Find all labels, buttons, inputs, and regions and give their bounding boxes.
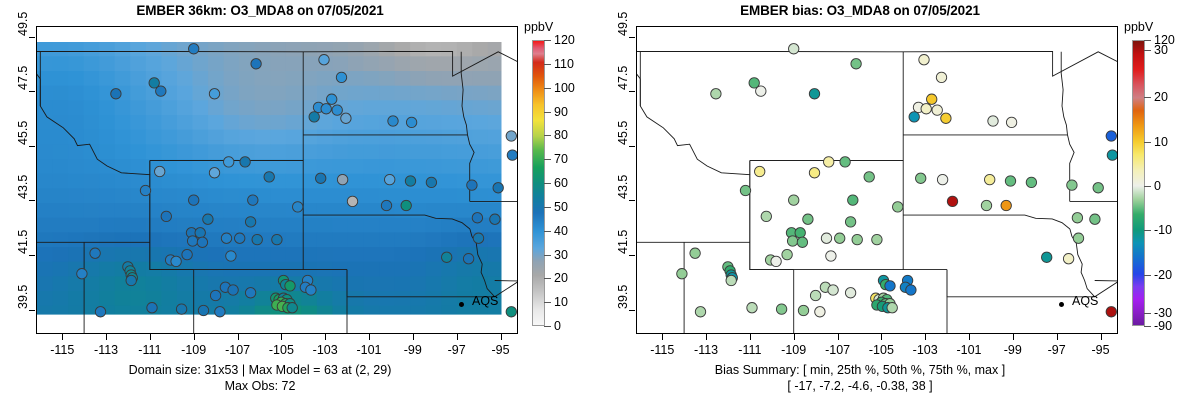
- colorbar-tick: [544, 278, 551, 279]
- y-axis: 39.541.543.545.547.549.5: [635, 26, 636, 334]
- colorbar-tick-label: 120: [554, 33, 575, 47]
- x-axis-tick-label: -105: [269, 343, 294, 357]
- colorbar-tick-label: 30: [554, 248, 568, 262]
- x-axis: -115-113-111-109-107-105-103-101-99-97-9…: [36, 334, 518, 335]
- x-axis-tick-label: -111: [138, 343, 161, 357]
- colorbar-tick-label: -90: [1154, 319, 1172, 333]
- y-axis-tick: [629, 37, 635, 38]
- aqs-legend-label: AQS: [472, 294, 498, 308]
- x-axis-tick-label: -99: [1004, 343, 1022, 357]
- x-axis-tick: [238, 334, 239, 340]
- x-axis-tick-label: -101: [956, 343, 981, 357]
- colorbar-tick: [1144, 142, 1151, 143]
- colorbar-tick: [1144, 40, 1151, 41]
- colorbar-tick-label: 10: [1154, 135, 1168, 149]
- y-axis-tick: [629, 146, 635, 147]
- aqs-legend-dot: [459, 302, 464, 307]
- x-axis-tick-label: -95: [491, 343, 509, 357]
- colorbar-tick-label: -10: [1154, 223, 1172, 237]
- x-axis-tick: [706, 334, 707, 340]
- map-clip: [637, 27, 1117, 333]
- y-axis-tick: [629, 91, 635, 92]
- x-axis-tick-label: -115: [50, 343, 74, 357]
- bias-map-plot[interactable]: [636, 26, 1118, 334]
- colorbar-tick: [544, 88, 551, 89]
- x-axis-tick-label: -97: [448, 343, 466, 357]
- figure-root: EMBER 36km: O3_MDA8 on 07/05/2021AQS-115…: [0, 0, 1200, 409]
- x-axis-tick: [62, 334, 63, 340]
- x-axis-tick: [281, 334, 282, 340]
- y-axis-tick: [629, 255, 635, 256]
- x-axis-tick: [457, 334, 458, 340]
- panel-model: EMBER 36km: O3_MDA8 on 07/05/2021AQS-115…: [0, 0, 600, 409]
- aqs-bias-markers[interactable]: [637, 27, 1117, 333]
- x-axis-tick-label: -99: [404, 343, 422, 357]
- colorbar-tick: [544, 183, 551, 184]
- colorbar-tick-label: 90: [554, 105, 568, 119]
- x-axis-tick: [194, 334, 195, 340]
- colorbar-tick-label: -20: [1154, 268, 1172, 282]
- x-axis-tick-label: -107: [225, 343, 250, 357]
- x-axis-tick: [1013, 334, 1014, 340]
- x-axis-tick: [413, 334, 414, 340]
- y-axis-tick: [629, 200, 635, 201]
- colorbar-tick: [544, 255, 551, 256]
- x-axis-tick: [1057, 334, 1058, 340]
- colorbar-unit-label: ppbV: [524, 20, 553, 34]
- panel-caption-line1: Bias Summary: [ min, 25th %, 50th %, 75t…: [600, 362, 1120, 378]
- model-map-plot[interactable]: [36, 26, 518, 334]
- x-axis-tick-label: -95: [1091, 343, 1109, 357]
- colorbar-tick-label: 10: [554, 295, 568, 309]
- x-axis-tick-label: -113: [94, 343, 118, 357]
- x-axis-tick: [325, 334, 326, 340]
- colorbar-tick: [544, 207, 551, 208]
- colorbar-tick: [1144, 326, 1151, 327]
- x-axis-tick: [838, 334, 839, 340]
- x-axis-tick: [969, 334, 970, 340]
- colorbar-tick-label: 110: [554, 57, 574, 71]
- colorbar-tick-label: 0: [554, 319, 561, 333]
- x-axis-tick-label: -103: [913, 343, 938, 357]
- colorbar-tick: [544, 326, 551, 327]
- x-axis-tick-label: -101: [356, 343, 381, 357]
- x-axis-tick: [925, 334, 926, 340]
- colorbar-tick-label: 0: [1154, 179, 1161, 193]
- x-axis-tick: [750, 334, 751, 340]
- colorbar-tick: [1144, 186, 1151, 187]
- y-axis-tick: [29, 200, 35, 201]
- x-axis-tick-label: -113: [694, 343, 718, 357]
- colorbar-tick: [544, 231, 551, 232]
- colorbar-tick: [544, 112, 551, 113]
- y-axis-tick: [29, 310, 35, 311]
- x-axis-tick-label: -111: [738, 343, 761, 357]
- colorbar-tick-label: 100: [554, 81, 575, 95]
- x-axis-tick: [369, 334, 370, 340]
- x-axis-tick-label: -115: [650, 343, 674, 357]
- x-axis-tick-label: -105: [869, 343, 894, 357]
- bias-panel-title: EMBER bias: O3_MDA8 on 07/05/2021: [600, 3, 1120, 18]
- aqs-observation-markers[interactable]: [37, 27, 517, 333]
- colorbar-tick-label: 30: [1154, 43, 1168, 57]
- colorbar-tick-label: 20: [1154, 90, 1168, 104]
- x-axis-tick-label: -109: [181, 343, 206, 357]
- colorbar-tick: [1144, 275, 1151, 276]
- x-axis-tick: [794, 334, 795, 340]
- colorbar-tick-label: 20: [554, 271, 568, 285]
- colorbar-tick: [544, 302, 551, 303]
- y-axis-tick: [629, 310, 635, 311]
- y-axis-tick: [29, 91, 35, 92]
- colorbar-tick: [544, 40, 551, 41]
- colorbar-tick: [1144, 97, 1151, 98]
- colorbar-tick-label: 50: [554, 200, 568, 214]
- colorbar-unit-label: ppbV: [1124, 20, 1153, 34]
- colorbar-tick-label: 70: [554, 152, 568, 166]
- x-axis-tick: [150, 334, 151, 340]
- panel-caption-line2: Max Obs: 72: [0, 378, 520, 394]
- colorbar-tick-label: 80: [554, 128, 568, 142]
- panel-caption-line2: [ -17, -7.2, -4.6, -0.38, 38 ]: [600, 378, 1120, 394]
- x-axis-tick: [501, 334, 502, 340]
- colorbar-tick: [1144, 50, 1151, 51]
- x-axis-tick-label: -97: [1048, 343, 1066, 357]
- colorbar-gradient: [1132, 40, 1145, 326]
- x-axis-tick-label: -107: [825, 343, 850, 357]
- x-axis-tick-label: -109: [781, 343, 806, 357]
- colorbar-tick-label: 40: [554, 224, 568, 238]
- panel-caption-line1: Domain size: 31x53 | Max Model = 63 at (…: [0, 362, 520, 378]
- x-axis-tick: [662, 334, 663, 340]
- y-axis-tick: [29, 146, 35, 147]
- aqs-legend-dot: [1059, 302, 1064, 307]
- colorbar-tick: [544, 135, 551, 136]
- x-axis-tick: [881, 334, 882, 340]
- x-axis-tick: [106, 334, 107, 340]
- colorbar-tick-label: 60: [554, 176, 568, 190]
- aqs-legend-label: AQS: [1072, 294, 1098, 308]
- colorbar-tick: [544, 159, 551, 160]
- y-axis-tick: [29, 255, 35, 256]
- colorbar-tick: [1144, 313, 1151, 314]
- x-axis: -115-113-111-109-107-105-103-101-99-97-9…: [636, 334, 1118, 335]
- model-panel-title: EMBER 36km: O3_MDA8 on 07/05/2021: [0, 3, 520, 18]
- y-axis: 39.541.543.545.547.549.5: [35, 26, 36, 334]
- colorbar-tick: [544, 64, 551, 65]
- x-axis-tick: [1101, 334, 1102, 340]
- y-axis-tick: [29, 37, 35, 38]
- colorbar-tick-label: -30: [1154, 306, 1172, 320]
- colorbar-tick: [1144, 230, 1151, 231]
- map-clip: [37, 27, 517, 333]
- panel-bias: EMBER bias: O3_MDA8 on 07/05/2021AQS-115…: [600, 0, 1200, 409]
- x-axis-tick-label: -103: [313, 343, 338, 357]
